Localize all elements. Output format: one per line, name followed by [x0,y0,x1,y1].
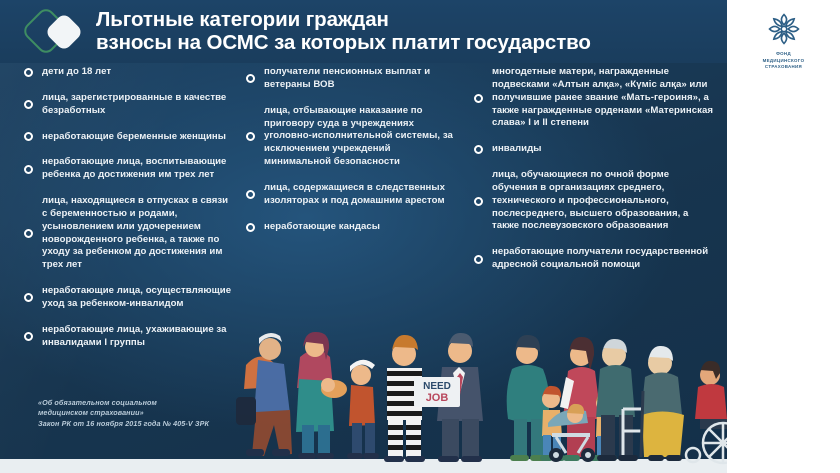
category-item: неработающие беременные женщины [24,131,234,144]
category-item-label: лица, содержащиеся в следственных изолят… [264,182,460,208]
bullet-circle-icon [24,165,33,174]
category-item-label: получатели пенсионных выплат и ветераны … [264,66,460,92]
main-panel: Льготные категории граждан взносы на ОСМ… [0,0,727,473]
bullet-circle-icon [474,94,483,103]
brand-sidebar: ФОНД МЕДИЦИНСКОГО СТРАХОВАНИЯ [727,0,840,473]
flower-snowflake-icon [767,12,801,46]
fund-name-line-3: СТРАХОВАНИЯ [738,64,830,71]
header-band: Льготные категории граждан взносы на ОСМ… [0,0,727,63]
category-item-label: дети до 18 лет [42,66,111,79]
category-item: лица, зарегистрированные в качестве безр… [24,92,234,118]
bullet-circle-icon [246,74,255,83]
bullet-circle-icon [24,100,33,109]
bullet-circle-icon [24,229,33,238]
category-item: дети до 18 лет [24,66,234,79]
diamond-badge-icon [26,7,88,57]
category-item: инвалиды [474,143,713,156]
bullet-circle-icon [246,223,255,232]
sign-text-need: NEED [423,381,451,392]
category-item-label: инвалиды [492,143,541,156]
category-item-label: лица, обучающиеся по очной форме обучени… [492,169,713,233]
title-line-1: Льготные категории граждан [96,9,591,32]
category-item: лица, находящиеся в отпусках в связи с б… [24,195,234,272]
category-item-label: многодетные матери, награжденные подвеск… [492,66,713,130]
footnote-line-2: медицинском страховании» [38,408,209,418]
footnote-line-3: Закон РК от 16 ноября 2015 года № 405-V … [38,419,209,429]
bullet-circle-icon [24,293,33,302]
title-line-2: взносы на ОСМС за которых платит государ… [96,32,591,55]
category-item-label: неработающие лица, осуществляющие уход з… [42,285,234,311]
bullet-circle-icon [474,145,483,154]
category-item-label: лица, находящиеся в отпусках в связи с б… [42,195,234,272]
bullet-circle-icon [246,190,255,199]
category-item: лица, отбывающие наказание по приговору … [246,105,460,169]
category-item: получатели пенсионных выплат и ветераны … [246,66,460,92]
category-item: лица, обучающиеся по очной форме обучени… [474,169,713,233]
bullet-circle-icon [474,197,483,206]
category-item-label: лица, отбывающие наказание по приговору … [264,105,460,169]
page-title: Льготные категории граждан взносы на ОСМ… [96,9,591,55]
category-item-label: неработающие получатели государственной … [492,246,713,272]
footnote-line-1: «Об обязательном социальном [38,398,209,408]
category-item: неработающие кандасы [246,221,460,234]
category-item: неработающие получатели государственной … [474,246,713,272]
category-item-label: неработающие кандасы [264,221,380,234]
category-item: неработающие лица, воспитывающие ребенка… [24,156,234,182]
sign-text-job: JOB [426,392,449,404]
category-item-label: неработающие беременные женщины [42,131,226,144]
fund-name-line-1: ФОНД [738,51,830,58]
law-reference-footnote: «Об обязательном социальном медицинском … [38,398,209,429]
bullet-circle-icon [24,132,33,141]
fund-name-line-2: МЕДИЦИНСКОГО [738,58,830,65]
category-item: неработающие лица, осуществляющие уход з… [24,285,234,311]
fund-name: ФОНД МЕДИЦИНСКОГО СТРАХОВАНИЯ [738,51,830,71]
category-item-label: неработающие лица, воспитывающие ребенка… [42,156,234,182]
fund-logo: ФОНД МЕДИЦИНСКОГО СТРАХОВАНИЯ [738,12,830,71]
category-item-label: лица, зарегистрированные в качестве безр… [42,92,234,118]
infographic-poster: Льготные категории граждан взносы на ОСМ… [0,0,840,473]
category-item: лица, содержащиеся в следственных изолят… [246,182,460,208]
bullet-circle-icon [474,255,483,264]
bullet-circle-icon [246,132,255,141]
category-item: многодетные матери, награжденные подвеск… [474,66,713,130]
bullet-circle-icon [24,68,33,77]
people-illustration: NEED JOB [0,313,727,473]
